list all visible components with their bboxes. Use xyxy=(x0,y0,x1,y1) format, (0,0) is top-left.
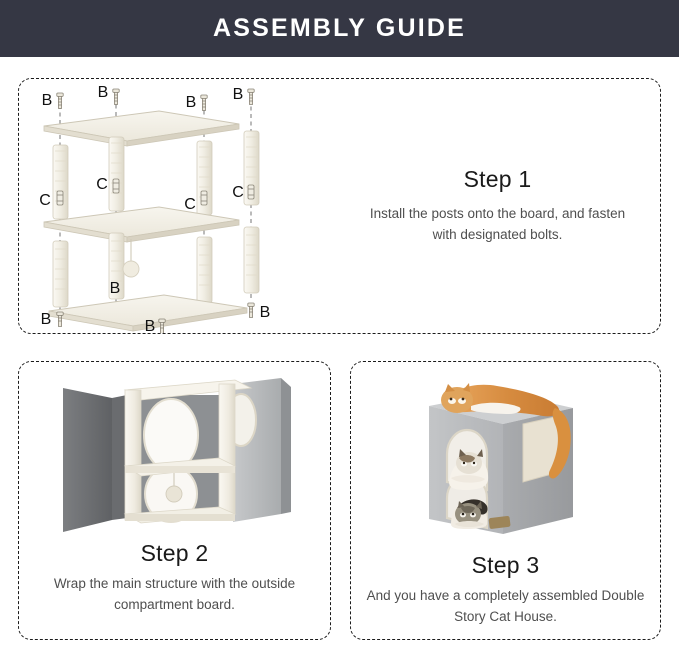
wrap-structure-photo xyxy=(19,362,330,540)
step1-heading: Step 1 xyxy=(349,166,646,193)
part-label-c: C xyxy=(232,184,244,201)
step3-text: Step 3 And you have a completely assembl… xyxy=(351,552,660,628)
toy-ball-icon xyxy=(123,239,139,277)
lower-posts xyxy=(53,227,259,307)
felt-panel-right-edge xyxy=(281,378,291,514)
part-label-b: B xyxy=(260,304,271,321)
part-label-b: B xyxy=(41,311,52,328)
step2-body: Wrap the main structure with the outside… xyxy=(19,574,330,616)
step-card-1: B B B B C C C C B B B B Step 1 Install t… xyxy=(18,78,661,334)
step-card-3: Step 3 And you have a completely assembl… xyxy=(350,361,661,640)
part-label-b: B xyxy=(145,318,156,333)
part-label-b: B xyxy=(42,92,53,109)
step2-text: Step 2 Wrap the main structure with the … xyxy=(19,540,330,616)
part-label-b: B xyxy=(233,86,244,103)
part-label-b: B xyxy=(110,280,121,297)
screw-icon-group-top xyxy=(57,89,254,110)
step3-heading: Step 3 xyxy=(351,552,660,579)
step3-body: And you have a completely assembled Doub… xyxy=(351,586,660,628)
part-label-c: C xyxy=(96,176,108,193)
page-title: ASSEMBLY GUIDE xyxy=(213,14,466,43)
step2-heading: Step 2 xyxy=(19,540,330,567)
step-card-2: Step 2 Wrap the main structure with the … xyxy=(18,361,331,640)
felt-panel-left xyxy=(63,388,112,532)
step2-figure xyxy=(19,362,330,540)
step3-figure xyxy=(351,362,660,552)
part-label-b: B xyxy=(98,84,109,101)
upper-posts xyxy=(53,131,259,219)
header-bar: ASSEMBLY GUIDE xyxy=(0,0,679,57)
step1-body: Install the posts onto the board, and fa… xyxy=(349,204,646,246)
connector-icon-group xyxy=(57,179,254,205)
exploded-cat-tree-diagram: B B B B C C C C B B B B xyxy=(19,79,349,333)
step1-text: Step 1 Install the posts onto the board,… xyxy=(349,166,660,246)
assembled-cat-house-photo xyxy=(351,362,660,552)
part-label-c: C xyxy=(39,192,51,209)
step1-figure: B B B B C C C C B B B B xyxy=(19,79,349,333)
part-label-b: B xyxy=(186,94,197,111)
part-label-c: C xyxy=(184,196,196,213)
